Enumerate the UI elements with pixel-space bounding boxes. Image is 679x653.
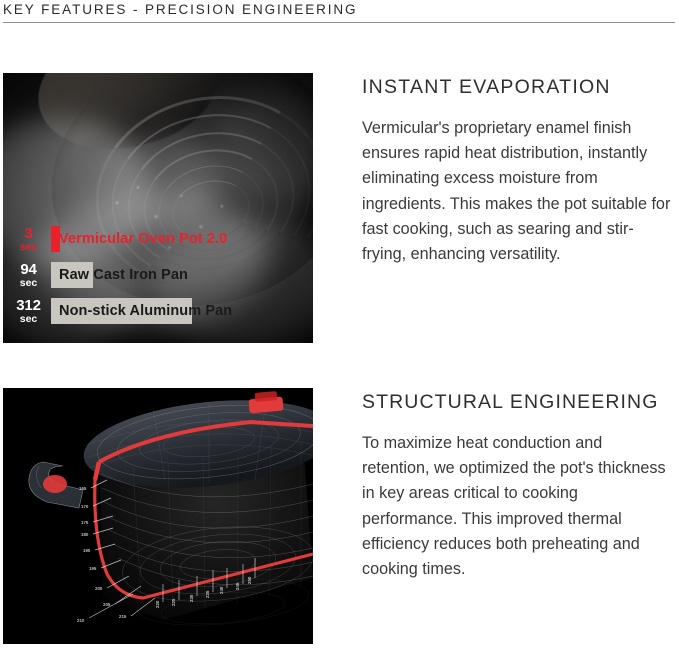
bar-category-label-1: Raw Cast Iron Pan (59, 267, 188, 283)
cad-photo-background: 165 170 175 180 190 195 200 210 205 215 … (3, 388, 313, 644)
bar-value-2: 312 sec (12, 298, 45, 325)
feature-body-1: Vermicular's proprietary enamel finish e… (362, 116, 674, 267)
steaming-pot-photo: 3 sec Vermicular Oven Pot 2.0 94 sec (3, 73, 313, 343)
svg-text:220: 220 (155, 600, 160, 608)
bar-value-unit: sec (12, 278, 45, 289)
key-features-page: KEY FEATURES - PRECISION ENGINEERING (0, 0, 679, 653)
bar-chart-row: 94 sec Raw Cast Iron Pan (12, 259, 93, 291)
bar-value-0: 3 sec (12, 226, 45, 253)
feature-copy-1: INSTANT EVAPORATION Vermicular's proprie… (362, 75, 674, 267)
svg-text:200: 200 (95, 586, 103, 591)
bar-value-1: 94 sec (12, 262, 45, 289)
bar-category-label-2: Non-stick Aluminum Pan (59, 303, 232, 319)
bar-chart-row: 3 sec Vermicular Oven Pot 2.0 (12, 223, 60, 255)
cad-wireframe-pot-diagram: 165 170 175 180 190 195 200 210 205 215 … (3, 388, 313, 644)
bar-value-unit: sec (12, 242, 45, 253)
bar-track-1: Raw Cast Iron Pan (51, 262, 93, 288)
svg-text:180: 180 (81, 532, 89, 537)
svg-text:170: 170 (81, 504, 89, 509)
svg-text:175: 175 (81, 520, 89, 525)
section-header: KEY FEATURES - PRECISION ENGINEERING (3, 0, 676, 28)
bar-value-number: 94 (12, 262, 45, 277)
feature-heading-1: INSTANT EVAPORATION (362, 75, 674, 99)
svg-text:205: 205 (103, 602, 111, 607)
feature-copy-2: STRUCTURAL ENGINEERING To maximize heat … (362, 390, 674, 582)
feature-body-2: To maximize heat conduction and retentio… (362, 431, 674, 582)
svg-text:190: 190 (83, 548, 91, 553)
svg-text:235: 235 (205, 590, 210, 598)
evaporation-bar-chart: 3 sec Vermicular Oven Pot 2.0 94 sec (3, 217, 313, 343)
feature-row-structural-engineering: 165 170 175 180 190 195 200 210 205 215 … (0, 388, 679, 646)
bar-value-unit: sec (12, 314, 45, 325)
svg-text:225: 225 (171, 598, 176, 606)
bar-category-label-0: Vermicular Oven Pot 2.0 (59, 231, 227, 247)
svg-text:195: 195 (89, 566, 97, 571)
bar-track-0: Vermicular Oven Pot 2.0 (51, 226, 60, 252)
bar-chart-row: 312 sec Non-stick Aluminum Pan (12, 295, 192, 327)
header-divider (3, 22, 675, 23)
svg-text:215: 215 (119, 614, 127, 619)
bar-value-number: 312 (12, 298, 45, 313)
svg-text:250: 250 (247, 576, 252, 584)
feature-row-instant-evaporation: 3 sec Vermicular Oven Pot 2.0 94 sec (0, 73, 679, 345)
feature-heading-2: STRUCTURAL ENGINEERING (362, 390, 674, 414)
svg-text:165: 165 (79, 486, 87, 491)
bar-value-number: 3 (12, 226, 45, 241)
bar-track-2: Non-stick Aluminum Pan (51, 298, 192, 324)
svg-text:245: 245 (235, 582, 240, 590)
page-title: KEY FEATURES - PRECISION ENGINEERING (3, 0, 676, 19)
svg-text:210: 210 (77, 618, 85, 623)
cad-wireframe-svg: 165 170 175 180 190 195 200 210 205 215 … (3, 388, 313, 644)
